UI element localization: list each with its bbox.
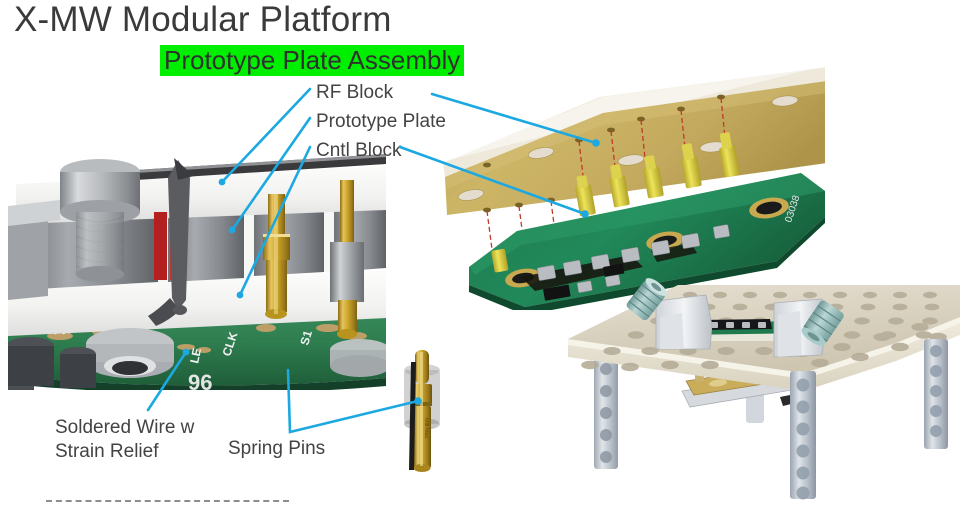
page-title: X-MW Modular Platform xyxy=(14,0,392,40)
test-fixture-assembly xyxy=(560,265,960,511)
callout-label-spring-pins: Spring Pins xyxy=(228,438,325,461)
svg-text:96: 96 xyxy=(188,370,212,390)
footer-divider xyxy=(46,500,289,502)
slide-canvas: X-MW Modular Platform Prototype Plate As… xyxy=(0,0,961,511)
cross-section-photo: +VIN LE CLK S1 96 xyxy=(8,150,386,390)
page-subtitle: Prototype Plate Assembly xyxy=(160,45,464,76)
callout-label-soldered-wire-line1: Soldered Wire w xyxy=(55,416,194,440)
callout-label-soldered-wire: Soldered Wire w Strain Relief xyxy=(55,416,194,465)
pin-marking: Mill-Max xyxy=(423,418,429,439)
callout-label-rf-block: RF Block xyxy=(316,82,393,105)
callout-label-cntl-block: Cntl Block xyxy=(316,140,402,163)
pogo-pin-detail: Mill-Max xyxy=(398,342,446,482)
callout-label-soldered-wire-line2: Strain Relief xyxy=(55,440,194,464)
callout-label-prototype-plate: Prototype Plate xyxy=(316,111,446,134)
